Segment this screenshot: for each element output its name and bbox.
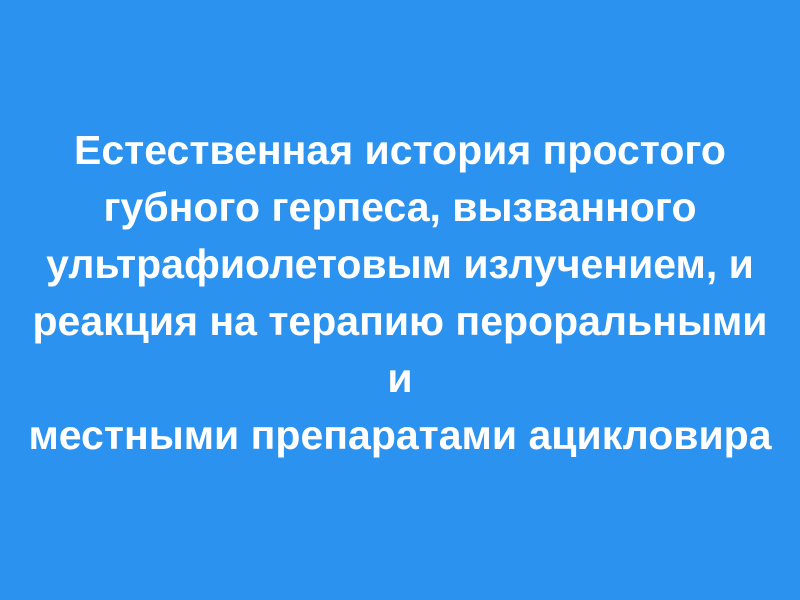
- title-slide: Естественная история простого губного ге…: [0, 0, 800, 600]
- slide-title: Естественная история простого губного ге…: [20, 122, 780, 478]
